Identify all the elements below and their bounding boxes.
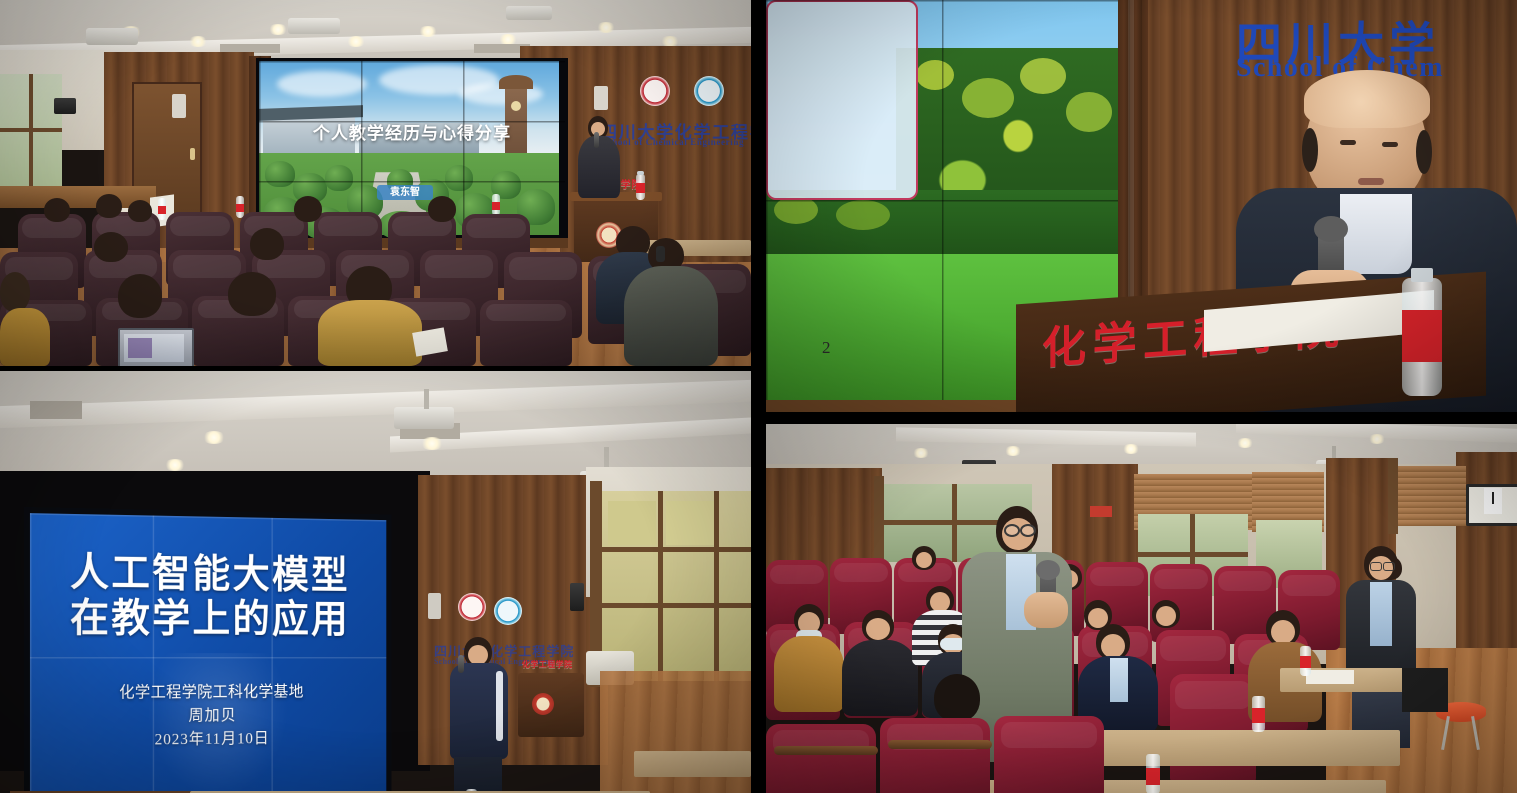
bottle-cap [1411,268,1433,282]
podium-emblem-icon [532,693,554,715]
window-blind [1394,466,1466,526]
standing-man-shirt [1370,582,1392,646]
audience-head [294,196,322,222]
ceiling-projector [86,28,138,45]
bottle-label [1252,708,1265,723]
dark-box [1402,668,1448,712]
window-pane [608,501,656,545]
audience-body [842,640,918,716]
bottle-label [158,206,166,214]
speaker-closeup-scene: 2 四川大学 School of Chem [766,0,1517,412]
bottle-label [1146,768,1160,785]
conference-table [634,751,751,777]
audience-face [1271,620,1295,644]
audience-head [94,232,128,262]
clock-hand [1492,492,1494,504]
armrest [888,740,992,749]
ceiling-vent [30,401,82,419]
audience-head [128,200,152,222]
door-handle[interactable] [190,148,195,160]
speaker-hair-side [1302,128,1318,172]
exit-sign [1090,506,1112,517]
water-bottle [236,196,244,218]
wall-speaker [594,86,608,110]
window-mullion [29,74,33,186]
seat [480,300,572,366]
downlight [346,36,366,47]
lecture-hall-scene: 个人教学经历与心得分享 袁东智 四川大学化学工程学院 School of Che… [0,0,751,366]
audience-body-yellow [0,308,50,366]
speaker-bald-crown [1304,70,1430,128]
window-mullion [658,491,663,681]
bottle-label [1402,310,1442,362]
microphone [594,132,599,148]
presenter-pants [454,757,502,793]
speaker-hair-side [1416,130,1432,174]
downlight [1236,438,1254,448]
audience-face [866,618,890,640]
audience-head [934,674,980,722]
downlight [164,459,186,471]
wall-speaker [570,583,584,611]
chemical-engineering-seal-icon [694,76,724,106]
microphone-head [1036,560,1060,580]
shirt-collar [1110,658,1128,702]
sichuan-university-seal-icon [458,593,486,621]
bottle-cap [637,171,644,175]
audience-head [428,196,456,222]
downlight [1122,444,1140,454]
video-wall-screen[interactable]: 人工智能大模型 在教学上的应用 化学工程学院工科化学基地 周加贝 2023年11… [30,513,386,793]
jacket-stripe [496,671,503,741]
downlight [596,22,616,33]
speaker-eye [1382,142,1398,147]
water-bottle [158,198,166,220]
window-mullion [952,484,957,562]
wall-institute-name-en: School of Chemical Engineering [602,137,744,147]
podium-sign-text: 化学工程学院 [522,659,572,670]
seat [1170,674,1256,784]
video-wall-bezel-grid [30,513,386,793]
downlight [268,24,288,35]
phone-held-up [656,246,665,262]
window-mullion [714,491,719,681]
speaker-eye [1340,140,1356,145]
bottle-label [492,202,500,210]
seat [766,724,876,793]
speaker-shirt [1340,194,1412,274]
downlight [188,36,208,47]
glasses-lens-icon [1020,524,1036,537]
wall-speaker [54,98,76,114]
seat [994,716,1104,793]
paper-on-table [1306,670,1354,684]
downlight [1368,434,1386,444]
audience-face [1156,606,1176,626]
window-pane [666,501,714,545]
ceiling-projector [506,6,552,20]
audience-body-yellow [318,300,422,366]
presenter-face [468,645,488,665]
microphone-head [1314,216,1348,242]
window-mullion [600,603,751,608]
glasses-lens-icon [1004,524,1020,537]
window-frame [874,476,884,568]
seat [880,718,990,793]
audience-head [118,274,162,318]
laptop-content [128,338,152,358]
glasses-lens-icon [1383,562,1395,571]
photo-collage: 个人教学经历与心得分享 袁东智 四川大学化学工程学院 School of Che… [0,0,1517,793]
water-bottle [1300,646,1311,676]
ceiling-projector [394,407,454,429]
downlight [912,448,930,458]
audience-face [930,592,950,612]
ai-presentation-scene: 人工智能大模型 在教学上的应用 化学工程学院工科化学基地 周加贝 2023年11… [0,371,751,793]
chemical-engineering-seal-icon [494,597,522,625]
audience-question-scene [766,424,1517,793]
photo-panel-top-left[interactable]: 个人教学经历与心得分享 袁东智 四川大学化学工程学院 School of Che… [0,0,751,366]
downlight [202,431,226,444]
water-bottle [1146,754,1160,793]
downlight [420,437,444,450]
ceiling-projector [288,18,340,34]
audience-head [250,228,284,260]
audience-body [624,266,718,366]
photo-panel-bottom-left[interactable]: 人工智能大模型 在教学上的应用 化学工程学院工科化学基地 周加贝 2023年11… [0,371,751,793]
questioner-hand [1024,592,1068,628]
audience-face [1101,634,1125,658]
wall-speaker [172,94,186,118]
glasses-lens-icon [1370,562,1382,571]
window-mullion [600,547,751,552]
bottle-label [1300,656,1311,668]
armrest [774,746,878,755]
wall-speaker [428,593,441,619]
water-bottle [1402,278,1442,396]
downlight [1004,446,1022,456]
bottle-label [636,183,645,193]
speaker-mouth [1358,178,1384,185]
photo-panel-bottom-right[interactable] [766,424,1517,793]
audience-head [44,198,70,222]
water-bottle [636,174,645,200]
sichuan-university-seal-icon [640,76,670,106]
window-frame [1388,458,1398,534]
audience-body [774,636,844,712]
water-bottle [1252,696,1265,732]
speaker-body [578,136,620,198]
audience-face [916,552,932,568]
audience-head [0,272,30,312]
video-wall[interactable]: 人工智能大模型 在教学上的应用 化学工程学院工科化学基地 周加贝 2023年11… [24,507,392,793]
water-bottle [492,194,500,216]
audience-head [228,272,276,316]
bottle-label [236,204,244,212]
audience-head [96,194,122,218]
microphone [458,655,464,673]
downlight [418,26,438,37]
projector-mount [424,389,429,409]
photo-panel-top-right[interactable]: 2 四川大学 School of Chem [766,0,1517,412]
